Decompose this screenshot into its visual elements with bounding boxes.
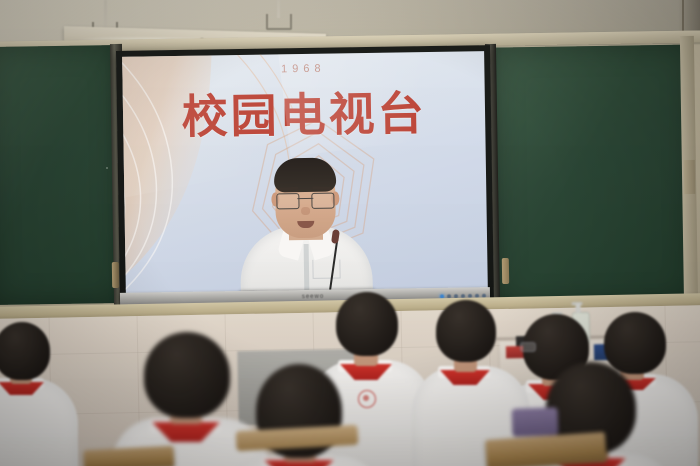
purple-bag — [512, 407, 559, 437]
presenter-nose — [301, 207, 310, 215]
chalkboard-panel-left — [0, 45, 122, 305]
chalkboard-handle[interactable] — [502, 258, 509, 284]
glasses-lens-left — [276, 193, 299, 209]
glasses-lens-right — [311, 193, 334, 209]
chalkboard-panel-right — [494, 44, 694, 305]
school-badge — [358, 390, 376, 408]
slide-title: 校园电视台 — [123, 76, 486, 148]
presenter-shirt-pocket — [312, 259, 340, 278]
lamp-bracket — [266, 14, 292, 30]
chalkboard-frame-clip — [684, 160, 696, 194]
chalkboard-speck — [106, 167, 108, 169]
display-screen[interactable]: 1968 校园电视台 — [122, 51, 488, 297]
classroom-photo: 1968 校园电视台 — [0, 0, 700, 466]
glasses-icon — [520, 342, 536, 352]
chalkboard-handle[interactable] — [112, 262, 119, 288]
presenter-shirt-placket — [304, 244, 310, 297]
student-desk — [83, 446, 174, 466]
